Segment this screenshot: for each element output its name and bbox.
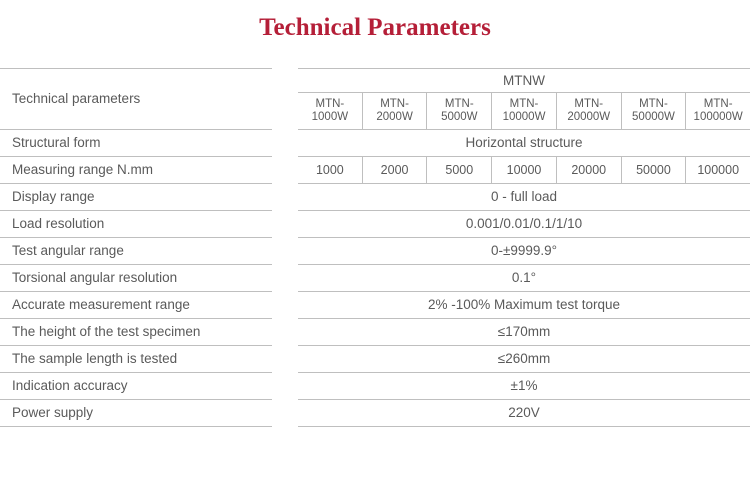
model-prefix: MTN- bbox=[510, 98, 539, 111]
row-value: 0 - full load bbox=[298, 184, 750, 211]
row-label: Indication accuracy bbox=[0, 373, 272, 400]
model-cell: MTN- 5000W bbox=[426, 93, 491, 129]
header-label-technical-parameters: Technical parameters bbox=[0, 68, 272, 130]
series-name-cell: MTNW bbox=[298, 68, 750, 93]
column-gap bbox=[272, 265, 298, 292]
model-cell: MTN- 20000W bbox=[556, 93, 621, 129]
table-header-row: Technical parameters MTNW MTN- 1000W MTN… bbox=[0, 68, 750, 130]
measuring-range-cell: 20000 bbox=[556, 157, 621, 183]
row-label: Test angular range bbox=[0, 238, 272, 265]
model-suffix: 20000W bbox=[567, 111, 610, 124]
model-prefix: MTN- bbox=[574, 98, 603, 111]
model-prefix: MTN- bbox=[639, 98, 668, 111]
row-value: 0.001/0.01/0.1/1/10 bbox=[298, 211, 750, 238]
row-value: Horizontal structure bbox=[298, 130, 750, 157]
column-gap bbox=[272, 211, 298, 238]
row-value: 2% -100% Maximum test torque bbox=[298, 292, 750, 319]
row-label: Display range bbox=[0, 184, 272, 211]
row-value: ≤260mm bbox=[298, 346, 750, 373]
column-gap bbox=[272, 292, 298, 319]
row-value: 220V bbox=[298, 400, 750, 427]
measuring-range-cell: 2000 bbox=[362, 157, 427, 183]
model-prefix: MTN- bbox=[315, 98, 344, 111]
table-row: Display range 0 - full load bbox=[0, 184, 750, 211]
model-cell: MTN- 1000W bbox=[298, 93, 362, 129]
model-suffix: 10000W bbox=[503, 111, 546, 124]
column-gap bbox=[272, 346, 298, 373]
row-value: ≤170mm bbox=[298, 319, 750, 346]
row-label: Accurate measurement range bbox=[0, 292, 272, 319]
column-gap bbox=[272, 130, 298, 157]
row-label: Load resolution bbox=[0, 211, 272, 238]
row-label: Torsional angular resolution bbox=[0, 265, 272, 292]
model-prefix: MTN- bbox=[380, 98, 409, 111]
column-gap bbox=[272, 400, 298, 427]
row-label: Power supply bbox=[0, 400, 272, 427]
technical-parameters-table: Technical parameters MTNW MTN- 1000W MTN… bbox=[0, 68, 750, 427]
model-cell: MTN- 10000W bbox=[491, 93, 556, 129]
row-label: The height of the test specimen bbox=[0, 319, 272, 346]
model-cell: MTN- 100000W bbox=[685, 93, 750, 129]
measuring-range-cell: 5000 bbox=[426, 157, 491, 183]
column-gap bbox=[272, 68, 298, 130]
column-gap bbox=[272, 373, 298, 400]
column-gap bbox=[272, 184, 298, 211]
table-row: Indication accuracy ±1% bbox=[0, 373, 750, 400]
table-row: Test angular range 0-±9999.9° bbox=[0, 238, 750, 265]
measuring-range-cell: 10000 bbox=[491, 157, 556, 183]
table-row: Structural form Horizontal structure bbox=[0, 130, 750, 157]
measuring-range-cell: 1000 bbox=[298, 157, 362, 183]
row-value: 0-±9999.9° bbox=[298, 238, 750, 265]
model-suffix: 5000W bbox=[441, 111, 477, 124]
model-cell: MTN- 2000W bbox=[362, 93, 427, 129]
model-prefix: MTN- bbox=[445, 98, 474, 111]
measuring-range-cell: 50000 bbox=[621, 157, 686, 183]
measuring-range-cells: 1000 2000 5000 10000 20000 50000 100000 bbox=[298, 157, 750, 183]
row-value: ±1% bbox=[298, 373, 750, 400]
row-value: 0.1° bbox=[298, 265, 750, 292]
model-suffix: 100000W bbox=[694, 111, 743, 124]
model-cell: MTN- 50000W bbox=[621, 93, 686, 129]
column-gap bbox=[272, 238, 298, 265]
model-prefix: MTN- bbox=[704, 98, 733, 111]
table-row: Accurate measurement range 2% -100% Maxi… bbox=[0, 292, 750, 319]
table-row: Torsional angular resolution 0.1° bbox=[0, 265, 750, 292]
row-label: Structural form bbox=[0, 130, 272, 157]
model-cells-row: MTN- 1000W MTN- 2000W MTN- 5000W MTN- 10… bbox=[298, 93, 750, 130]
table-row: Measuring range N.mm 1000 2000 5000 1000… bbox=[0, 157, 750, 184]
row-label: Measuring range N.mm bbox=[0, 157, 272, 184]
column-gap bbox=[272, 319, 298, 346]
row-label: The sample length is tested bbox=[0, 346, 272, 373]
table-row: Load resolution 0.001/0.01/0.1/1/10 bbox=[0, 211, 750, 238]
table-row: Power supply 220V bbox=[0, 400, 750, 427]
header-models-block: MTNW MTN- 1000W MTN- 2000W MTN- 5000W bbox=[298, 68, 750, 130]
row-value-split: 1000 2000 5000 10000 20000 50000 100000 bbox=[298, 157, 750, 184]
table-row: The height of the test specimen ≤170mm bbox=[0, 319, 750, 346]
column-gap bbox=[272, 157, 298, 184]
page-title: Technical Parameters bbox=[0, 14, 750, 42]
table-row: The sample length is tested ≤260mm bbox=[0, 346, 750, 373]
model-suffix: 2000W bbox=[376, 111, 412, 124]
model-suffix: 50000W bbox=[632, 111, 675, 124]
measuring-range-cell: 100000 bbox=[685, 157, 750, 183]
spec-sheet-page: Technical Parameters Technical parameter… bbox=[0, 0, 750, 477]
model-suffix: 1000W bbox=[312, 111, 348, 124]
